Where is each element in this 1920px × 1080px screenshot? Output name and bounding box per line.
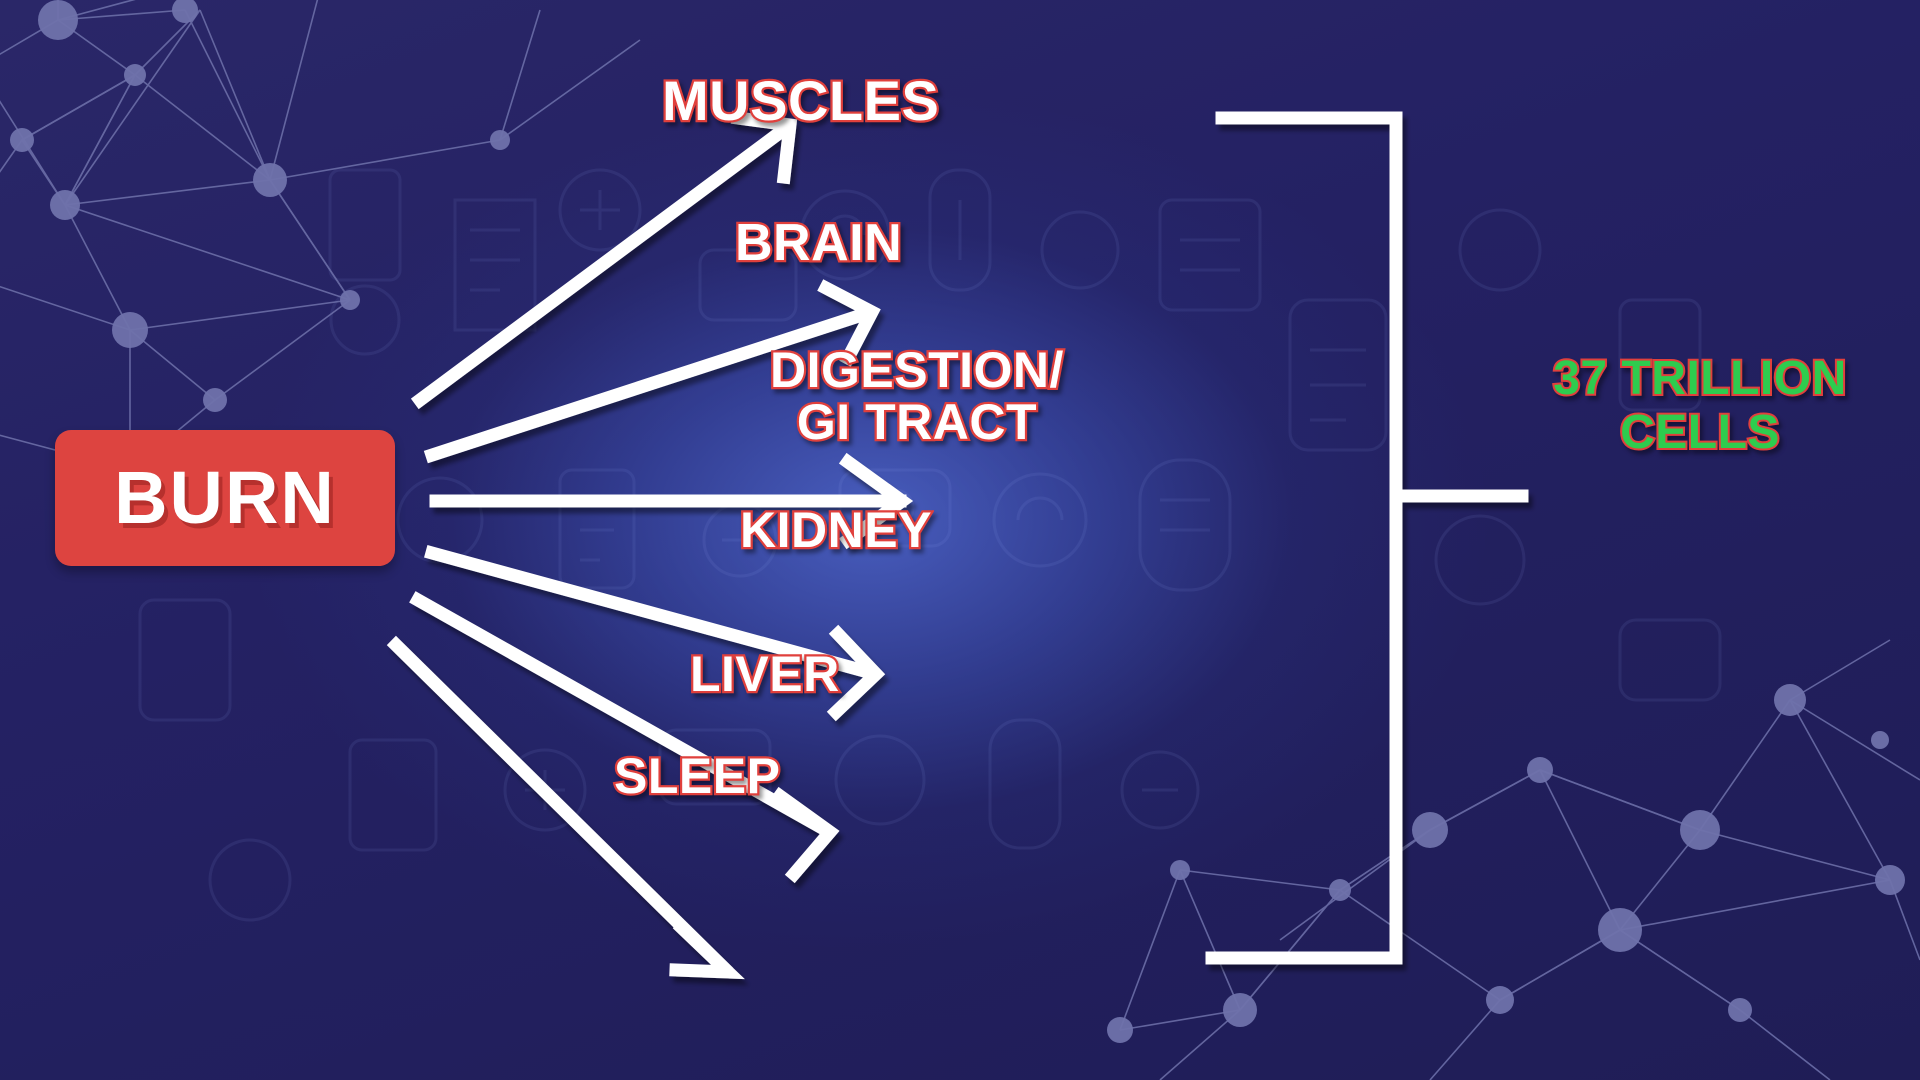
- arrow-to-sleep: [396, 645, 728, 972]
- label-muscles: MUSCLES: [662, 72, 939, 130]
- label-digestion-gi-tract: DIGESTION/ GI TRACT: [770, 344, 1064, 448]
- diagram-canvas: BURN MUSCLES BRAIN DIGESTION/ GI TRACT K…: [0, 0, 1920, 1080]
- burn-label: BURN: [114, 461, 336, 535]
- burn-source-box[interactable]: BURN: [55, 430, 395, 566]
- label-liver: LIVER: [690, 648, 840, 700]
- label-sleep: SLEEP: [614, 750, 780, 802]
- right-brace-icon: [1212, 118, 1522, 958]
- label-brain: BRAIN: [735, 216, 902, 270]
- label-kidney: KIDNEY: [740, 504, 932, 556]
- label-total-cells: 37 TRILLION CELLS: [1500, 352, 1900, 460]
